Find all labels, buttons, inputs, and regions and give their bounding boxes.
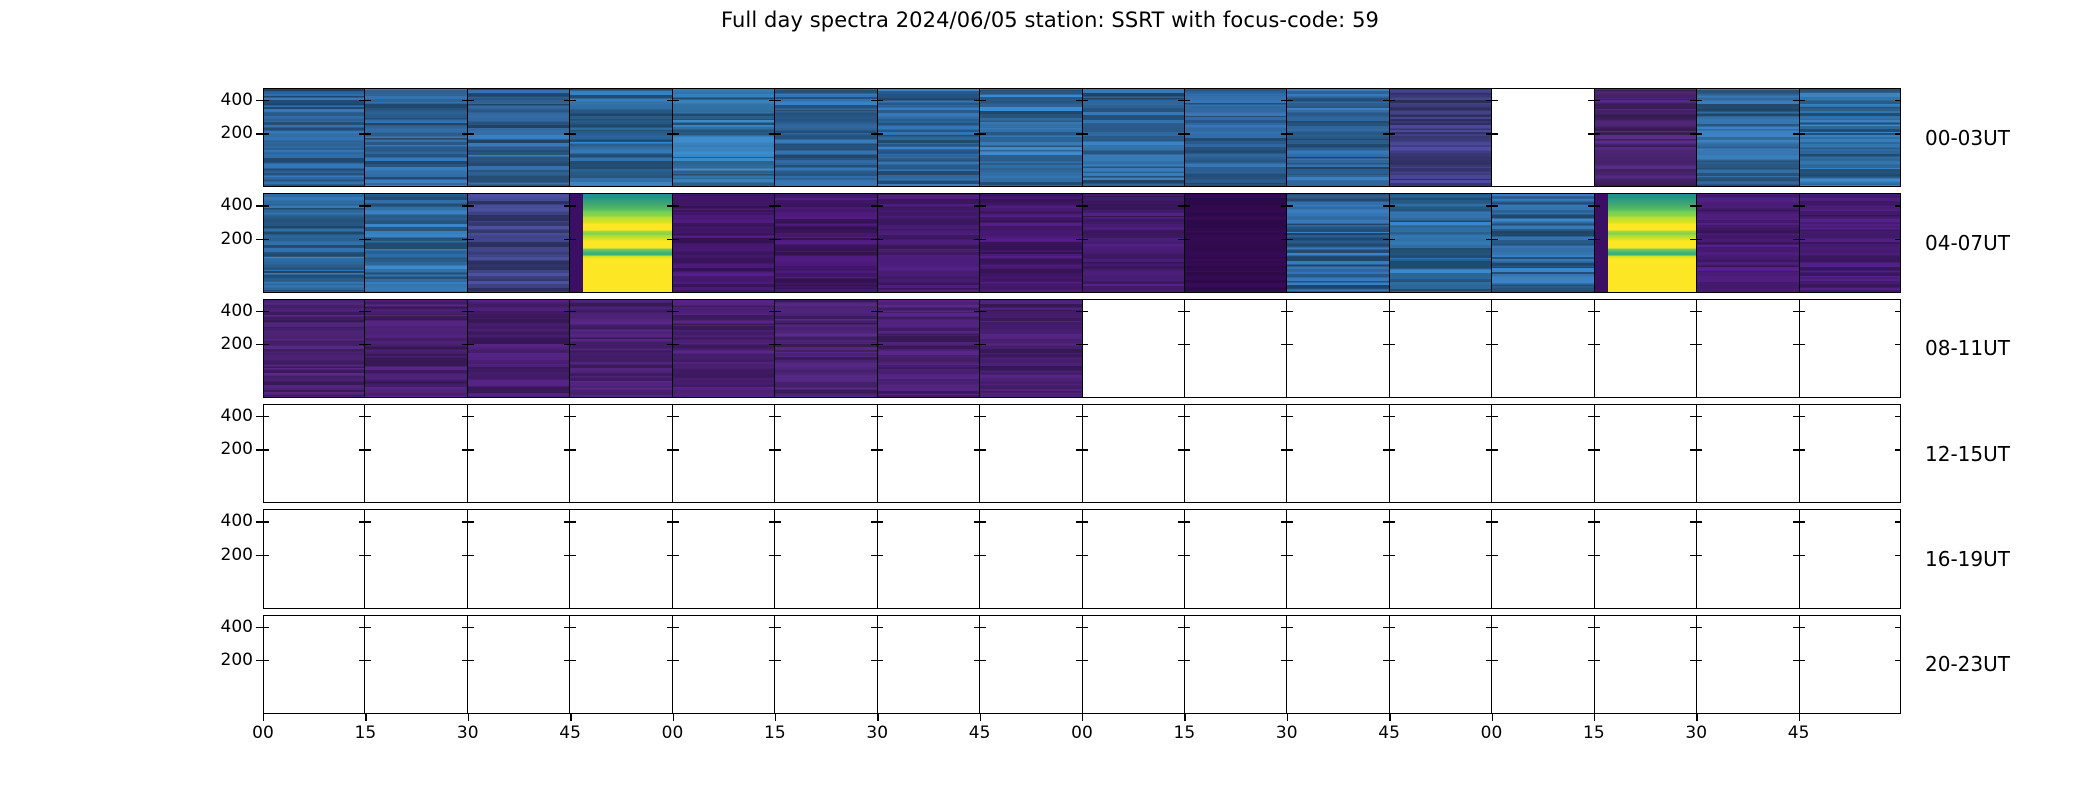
spectrogram-panel[interactable] [570, 193, 672, 292]
y-tick-mark [769, 100, 775, 101]
y-tick-mark [1076, 133, 1082, 134]
spectrogram-panel[interactable] [570, 615, 672, 714]
spectrogram-panel[interactable] [1697, 404, 1799, 503]
spectrogram-panel[interactable] [673, 615, 775, 714]
x-tick-mark [1082, 714, 1083, 721]
panel-image [1800, 88, 1901, 187]
panel-image [1492, 615, 1593, 714]
y-tick-mark [1184, 521, 1190, 522]
spectrogram-panel[interactable] [1697, 299, 1799, 398]
spectrogram-panel[interactable] [1287, 88, 1389, 187]
y-tick-mark [1492, 449, 1498, 450]
spectrogram-panel[interactable] [1492, 193, 1594, 292]
y-tick-mark [974, 521, 980, 522]
y-tick-mark [1082, 311, 1088, 312]
spectrogram-panel[interactable] [365, 404, 467, 503]
y-tick-mark [1082, 205, 1088, 206]
x-tick-label: 15 [1583, 724, 1605, 742]
y-tick-mark [769, 133, 775, 134]
spectrogram-panel[interactable] [365, 509, 467, 608]
spectrogram-panel[interactable] [263, 299, 365, 398]
y-tick-mark [1281, 627, 1287, 628]
y-tick-mark [263, 311, 269, 312]
y-tick-mark [1594, 344, 1600, 345]
spectrogram-panel[interactable] [1083, 299, 1185, 398]
panel-image [1185, 615, 1286, 714]
y-tick-mark [974, 205, 980, 206]
spectrogram-panel[interactable] [1185, 404, 1287, 503]
y-tick-mark [1383, 449, 1389, 450]
y-tick-mark [1082, 133, 1088, 134]
y-tick-mark [1184, 449, 1190, 450]
y-tick-mark [1287, 100, 1293, 101]
panel-image [1492, 193, 1593, 292]
y-tick-mark [1076, 311, 1082, 312]
spectrogram-panel[interactable] [1083, 88, 1185, 187]
y-tick-mark [769, 521, 775, 522]
spectrogram-panel[interactable] [1185, 509, 1287, 608]
x-tick-label: 30 [457, 724, 479, 742]
y-tick-mark [1076, 555, 1082, 556]
spectrogram-panel[interactable] [1287, 299, 1389, 398]
panel-image [263, 615, 364, 714]
spectrogram-panel[interactable] [1492, 299, 1594, 398]
y-tick-mark [1588, 133, 1594, 134]
y-tick-mark [263, 133, 269, 134]
spectrogram-panel[interactable] [1083, 193, 1185, 292]
spectrogram-panel[interactable] [468, 88, 570, 187]
y-tick-mark [359, 521, 365, 522]
y-tick-mark [468, 100, 474, 101]
y-tick-mark [359, 449, 365, 450]
radio-burst [583, 193, 671, 292]
y-tick-mark [462, 660, 468, 661]
y-tick-mark [1799, 133, 1805, 134]
y-tick-mark [1793, 521, 1799, 522]
spectrogram-panel[interactable] [1697, 88, 1799, 187]
y-tick-mark [1383, 344, 1389, 345]
y-tick-mark [980, 205, 986, 206]
y-tick-mark [1799, 100, 1805, 101]
y-tick-mark [667, 133, 673, 134]
y-tick-mark [1383, 416, 1389, 417]
spectrogram-panel[interactable] [1697, 509, 1799, 608]
y-tick-mark [1696, 555, 1702, 556]
y-tick-mark [365, 100, 371, 101]
y-tick-mark [1184, 133, 1190, 134]
spectrogram-panel[interactable] [1595, 299, 1697, 398]
panel-image [1083, 509, 1184, 608]
y-tick-mark [769, 205, 775, 206]
spectrogram-panel[interactable] [878, 404, 980, 503]
y-tick-mark [359, 555, 365, 556]
y-tick-mark [1588, 205, 1594, 206]
figure-title: Full day spectra 2024/06/05 station: SSR… [0, 8, 2100, 32]
spectrogram-panel[interactable] [263, 509, 365, 608]
y-tick-mark [1486, 416, 1492, 417]
panel-image [980, 88, 1081, 187]
y-tick-mark [1082, 521, 1088, 522]
y-tick-mark [365, 627, 371, 628]
y-tick-mark [1594, 416, 1600, 417]
y-tick-mark [1588, 311, 1594, 312]
y-tick-mark [1588, 344, 1594, 345]
panel-image [1492, 404, 1593, 503]
panel-image [1697, 615, 1798, 714]
y-tick-mark [1895, 344, 1901, 345]
y-tick-mark [1389, 416, 1395, 417]
spectrogram-panel[interactable] [570, 88, 672, 187]
panel-image [980, 299, 1081, 398]
panel-image [365, 88, 466, 187]
y-tick-mark [570, 100, 576, 101]
y-tick-mark [1690, 449, 1696, 450]
spectrogram-panel[interactable] [775, 404, 877, 503]
spectrogram-panel[interactable] [263, 193, 365, 292]
y-tick-mark [980, 449, 986, 450]
spectrogram-panel[interactable] [1595, 88, 1697, 187]
spectrogram-panel[interactable] [570, 299, 672, 398]
y-tick-mark [1184, 416, 1190, 417]
spectrogram-panel[interactable] [1492, 404, 1594, 503]
y-tick-mark [673, 205, 679, 206]
panel-image [775, 299, 876, 398]
radio-burst [1608, 193, 1696, 292]
spectrogram-panel[interactable] [263, 615, 365, 714]
y-tick-mark [1793, 416, 1799, 417]
y-tick-mark [667, 627, 673, 628]
spectrogram-panel[interactable] [673, 88, 775, 187]
y-tick-mark [1281, 311, 1287, 312]
y-tick-mark [468, 660, 474, 661]
spectrogram-panel[interactable] [1083, 615, 1185, 714]
spectrogram-panel[interactable] [1287, 404, 1389, 503]
x-tick-mark [1696, 714, 1697, 721]
y-tick-mark [365, 521, 371, 522]
panel-image [1697, 88, 1798, 187]
y-tick-mark [462, 627, 468, 628]
y-tick-mark [1793, 205, 1799, 206]
y-tick-mark [1486, 627, 1492, 628]
y-tick-mark [1492, 100, 1498, 101]
spectrogram-panel[interactable] [980, 404, 1082, 503]
y-tick-mark [570, 205, 576, 206]
y-tick-mark [871, 627, 877, 628]
spectrogram-panel[interactable] [1390, 299, 1492, 398]
y-tick-mark [1076, 627, 1082, 628]
y-tick-mark [570, 627, 576, 628]
spectrogram-panel[interactable] [1083, 509, 1185, 608]
spectrogram-panel[interactable] [673, 299, 775, 398]
panel-image [1800, 404, 1901, 503]
spectrogram-panel[interactable] [1492, 509, 1594, 608]
y-tick-mark [775, 133, 781, 134]
y-tick-label: 400 [201, 408, 253, 425]
y-tick-mark-outer [256, 311, 263, 312]
spectrogram-panel[interactable] [673, 509, 775, 608]
spectrogram-panel[interactable] [468, 299, 570, 398]
y-tick-mark [877, 239, 883, 240]
y-tick-mark [263, 660, 269, 661]
panel-image [570, 88, 671, 187]
y-tick-mark [974, 416, 980, 417]
x-tick-label: 15 [355, 724, 377, 742]
y-tick-mark [1799, 416, 1805, 417]
y-tick-mark [359, 205, 365, 206]
y-tick-mark [1486, 133, 1492, 134]
y-tick-mark [1588, 100, 1594, 101]
y-tick-mark [775, 627, 781, 628]
y-tick-mark [1690, 416, 1696, 417]
y-tick-mark [667, 521, 673, 522]
x-tick-label: 30 [1685, 724, 1707, 742]
spectrogram-panel[interactable] [1185, 615, 1287, 714]
panel-image [673, 509, 774, 608]
panel-image [1390, 615, 1491, 714]
y-tick-mark [1287, 239, 1293, 240]
y-tick-mark [980, 521, 986, 522]
spectrogram-panel[interactable] [468, 509, 570, 608]
y-tick-mark [673, 239, 679, 240]
spectrogram-panel[interactable] [775, 299, 877, 398]
x-tick-label: 30 [1276, 724, 1298, 742]
panel-image [1697, 193, 1798, 292]
y-tick-mark [1389, 449, 1395, 450]
y-tick-mark [673, 555, 679, 556]
spectrogram-panel[interactable] [1595, 615, 1697, 714]
y-tick-mark [673, 311, 679, 312]
spectrogram-panel[interactable] [775, 509, 877, 608]
y-tick-mark [570, 449, 576, 450]
panel-image [1492, 299, 1593, 398]
y-tick-mark [667, 100, 673, 101]
panel-image [263, 509, 364, 608]
y-tick-mark [570, 133, 576, 134]
y-tick-mark [775, 311, 781, 312]
panel-image [1595, 509, 1696, 608]
spectrogram-panel[interactable] [1287, 615, 1389, 714]
y-tick-mark-outer [256, 627, 263, 628]
panel-image [1800, 299, 1901, 398]
spectrogram-panel[interactable] [980, 615, 1082, 714]
y-tick-mark [1690, 627, 1696, 628]
y-tick-mark [1383, 205, 1389, 206]
y-tick-mark [673, 133, 679, 134]
y-tick-mark [1486, 100, 1492, 101]
y-tick-mark [1389, 344, 1395, 345]
y-tick-mark [365, 555, 371, 556]
spectrogram-panel[interactable] [1185, 193, 1287, 292]
spectrogram-panel[interactable] [1800, 88, 1901, 187]
y-tick-mark [1287, 205, 1293, 206]
y-tick-mark [1076, 205, 1082, 206]
y-tick-mark-outer [256, 344, 263, 345]
panel-image [1083, 88, 1184, 187]
spectrogram-panel[interactable] [1595, 193, 1697, 292]
spectrogram-panel[interactable] [775, 615, 877, 714]
y-tick-mark [1389, 311, 1395, 312]
y-tick-mark [564, 555, 570, 556]
y-tick-mark [468, 627, 474, 628]
spectrogram-panel[interactable] [775, 193, 877, 292]
spectrogram-panel[interactable] [980, 299, 1082, 398]
spectrogram-panel[interactable] [468, 404, 570, 503]
x-tick-mark [673, 714, 674, 721]
y-tick-mark [468, 311, 474, 312]
y-tick-mark [1696, 627, 1702, 628]
x-tick-mark [1389, 714, 1390, 721]
y-tick-mark [877, 133, 883, 134]
panel-image [1595, 299, 1696, 398]
spectrogram-panel[interactable] [1697, 615, 1799, 714]
panel-strip [263, 88, 1901, 187]
spectrogram-panel[interactable] [1083, 404, 1185, 503]
spectrogram-panel[interactable] [1287, 509, 1389, 608]
y-tick-mark [775, 205, 781, 206]
panel-image [878, 615, 979, 714]
y-tick-mark [769, 311, 775, 312]
spectrogram-panel[interactable] [365, 193, 467, 292]
spectrogram-panel[interactable] [878, 88, 980, 187]
y-tick-mark [1082, 660, 1088, 661]
x-tick-label: 00 [252, 724, 274, 742]
y-tick-mark [974, 449, 980, 450]
x-tick-mark [263, 714, 264, 721]
spectrogram-panel[interactable] [673, 404, 775, 503]
spectrogram-panel[interactable] [1390, 88, 1492, 187]
spectrogram-row [263, 615, 1901, 714]
y-tick-mark-outer [256, 205, 263, 206]
spectrogram-panel[interactable] [775, 88, 877, 187]
y-tick-mark [263, 100, 269, 101]
y-tick-mark [570, 344, 576, 345]
y-tick-mark [462, 449, 468, 450]
spectrogram-panel[interactable] [365, 299, 467, 398]
y-tick-mark [564, 205, 570, 206]
spectrogram-panel[interactable] [1800, 299, 1901, 398]
spectrogram-panel[interactable] [980, 193, 1082, 292]
panel-image [570, 299, 671, 398]
spectrogram-panel[interactable] [1595, 509, 1697, 608]
panel-image [1595, 615, 1696, 714]
y-tick-mark [1594, 521, 1600, 522]
y-tick-mark [769, 660, 775, 661]
y-tick-mark [564, 416, 570, 417]
spectrogram-panel[interactable] [980, 88, 1082, 187]
spectrogram-panel[interactable] [1287, 193, 1389, 292]
panel-image [878, 299, 979, 398]
spectrogram-panel[interactable] [1595, 404, 1697, 503]
spectrogram-panel[interactable] [673, 193, 775, 292]
spectrogram-panel[interactable] [1697, 193, 1799, 292]
spectrogram-panel[interactable] [263, 88, 365, 187]
spectrogram-panel[interactable] [1492, 615, 1594, 714]
y-tick-mark [1287, 627, 1293, 628]
y-tick-mark-outer [256, 521, 263, 522]
y-tick-mark [1383, 133, 1389, 134]
spectrogram-panel[interactable] [1800, 404, 1901, 503]
y-tick-mark [1594, 449, 1600, 450]
panel-image [1185, 509, 1286, 608]
spectrogram-panel[interactable] [468, 193, 570, 292]
y-tick-mark [564, 311, 570, 312]
y-tick-mark [980, 416, 986, 417]
spectrogram-panel[interactable] [878, 193, 980, 292]
panel-image [1697, 299, 1798, 398]
spectrogram-panel[interactable] [1390, 404, 1492, 503]
y-tick-mark [667, 239, 673, 240]
panel-image [775, 193, 876, 292]
spectrogram-panel[interactable] [1492, 88, 1594, 187]
panel-image [980, 615, 1081, 714]
panel-image [1185, 404, 1286, 503]
y-tick-mark [974, 133, 980, 134]
y-tick-mark [359, 133, 365, 134]
panel-image [468, 615, 569, 714]
y-tick-mark [1799, 311, 1805, 312]
y-tick-mark [1287, 449, 1293, 450]
y-tick-mark [877, 449, 883, 450]
x-tick-mark [1799, 714, 1800, 721]
spectrogram-panel[interactable] [1390, 509, 1492, 608]
panel-image [263, 88, 364, 187]
spectrogram-panel[interactable] [365, 88, 467, 187]
y-tick-mark [359, 100, 365, 101]
x-tick-mark [980, 714, 981, 721]
panel-image [1800, 193, 1901, 292]
y-tick-mark [1696, 660, 1702, 661]
panel-image [570, 193, 671, 292]
y-tick-mark [1895, 521, 1901, 522]
spectrogram-panel[interactable] [980, 509, 1082, 608]
y-tick-label: 400 [201, 619, 253, 636]
y-tick-mark-outer [256, 239, 263, 240]
y-tick-mark-outer [256, 660, 263, 661]
y-tick-mark [1383, 100, 1389, 101]
panel-image [263, 299, 364, 398]
y-tick-mark [1895, 239, 1901, 240]
y-tick-mark [1895, 133, 1901, 134]
spectrogram-panel[interactable] [365, 615, 467, 714]
row-time-caption: 12-15UT [1925, 444, 2010, 464]
spectrogram-panel[interactable] [1185, 299, 1287, 398]
panel-image [1185, 299, 1286, 398]
spectrogram-panel[interactable] [570, 404, 672, 503]
spectrogram-panel[interactable] [263, 404, 365, 503]
spectrogram-panel[interactable] [1185, 88, 1287, 187]
spectrogram-panel[interactable] [1800, 509, 1901, 608]
y-tick-mark [564, 627, 570, 628]
spectrogram-panel[interactable] [1800, 615, 1901, 714]
spectrogram-panel[interactable] [878, 509, 980, 608]
y-tick-mark [1588, 521, 1594, 522]
y-tick-mark [1281, 660, 1287, 661]
spectrogram-row [263, 404, 1901, 503]
spectrogram-panel[interactable] [1800, 193, 1901, 292]
spectrogram-panel[interactable] [878, 615, 980, 714]
spectrogram-panel[interactable] [878, 299, 980, 398]
spectrogram-panel[interactable] [468, 615, 570, 714]
spectrogram-panel[interactable] [570, 509, 672, 608]
y-tick-mark [1383, 555, 1389, 556]
spectrogram-panel[interactable] [1390, 615, 1492, 714]
spectrogram-panel[interactable] [1390, 193, 1492, 292]
y-tick-mark [570, 239, 576, 240]
y-tick-label: 200 [201, 336, 253, 353]
y-tick-mark [1492, 205, 1498, 206]
y-tick-mark [570, 416, 576, 417]
y-tick-mark [1287, 133, 1293, 134]
